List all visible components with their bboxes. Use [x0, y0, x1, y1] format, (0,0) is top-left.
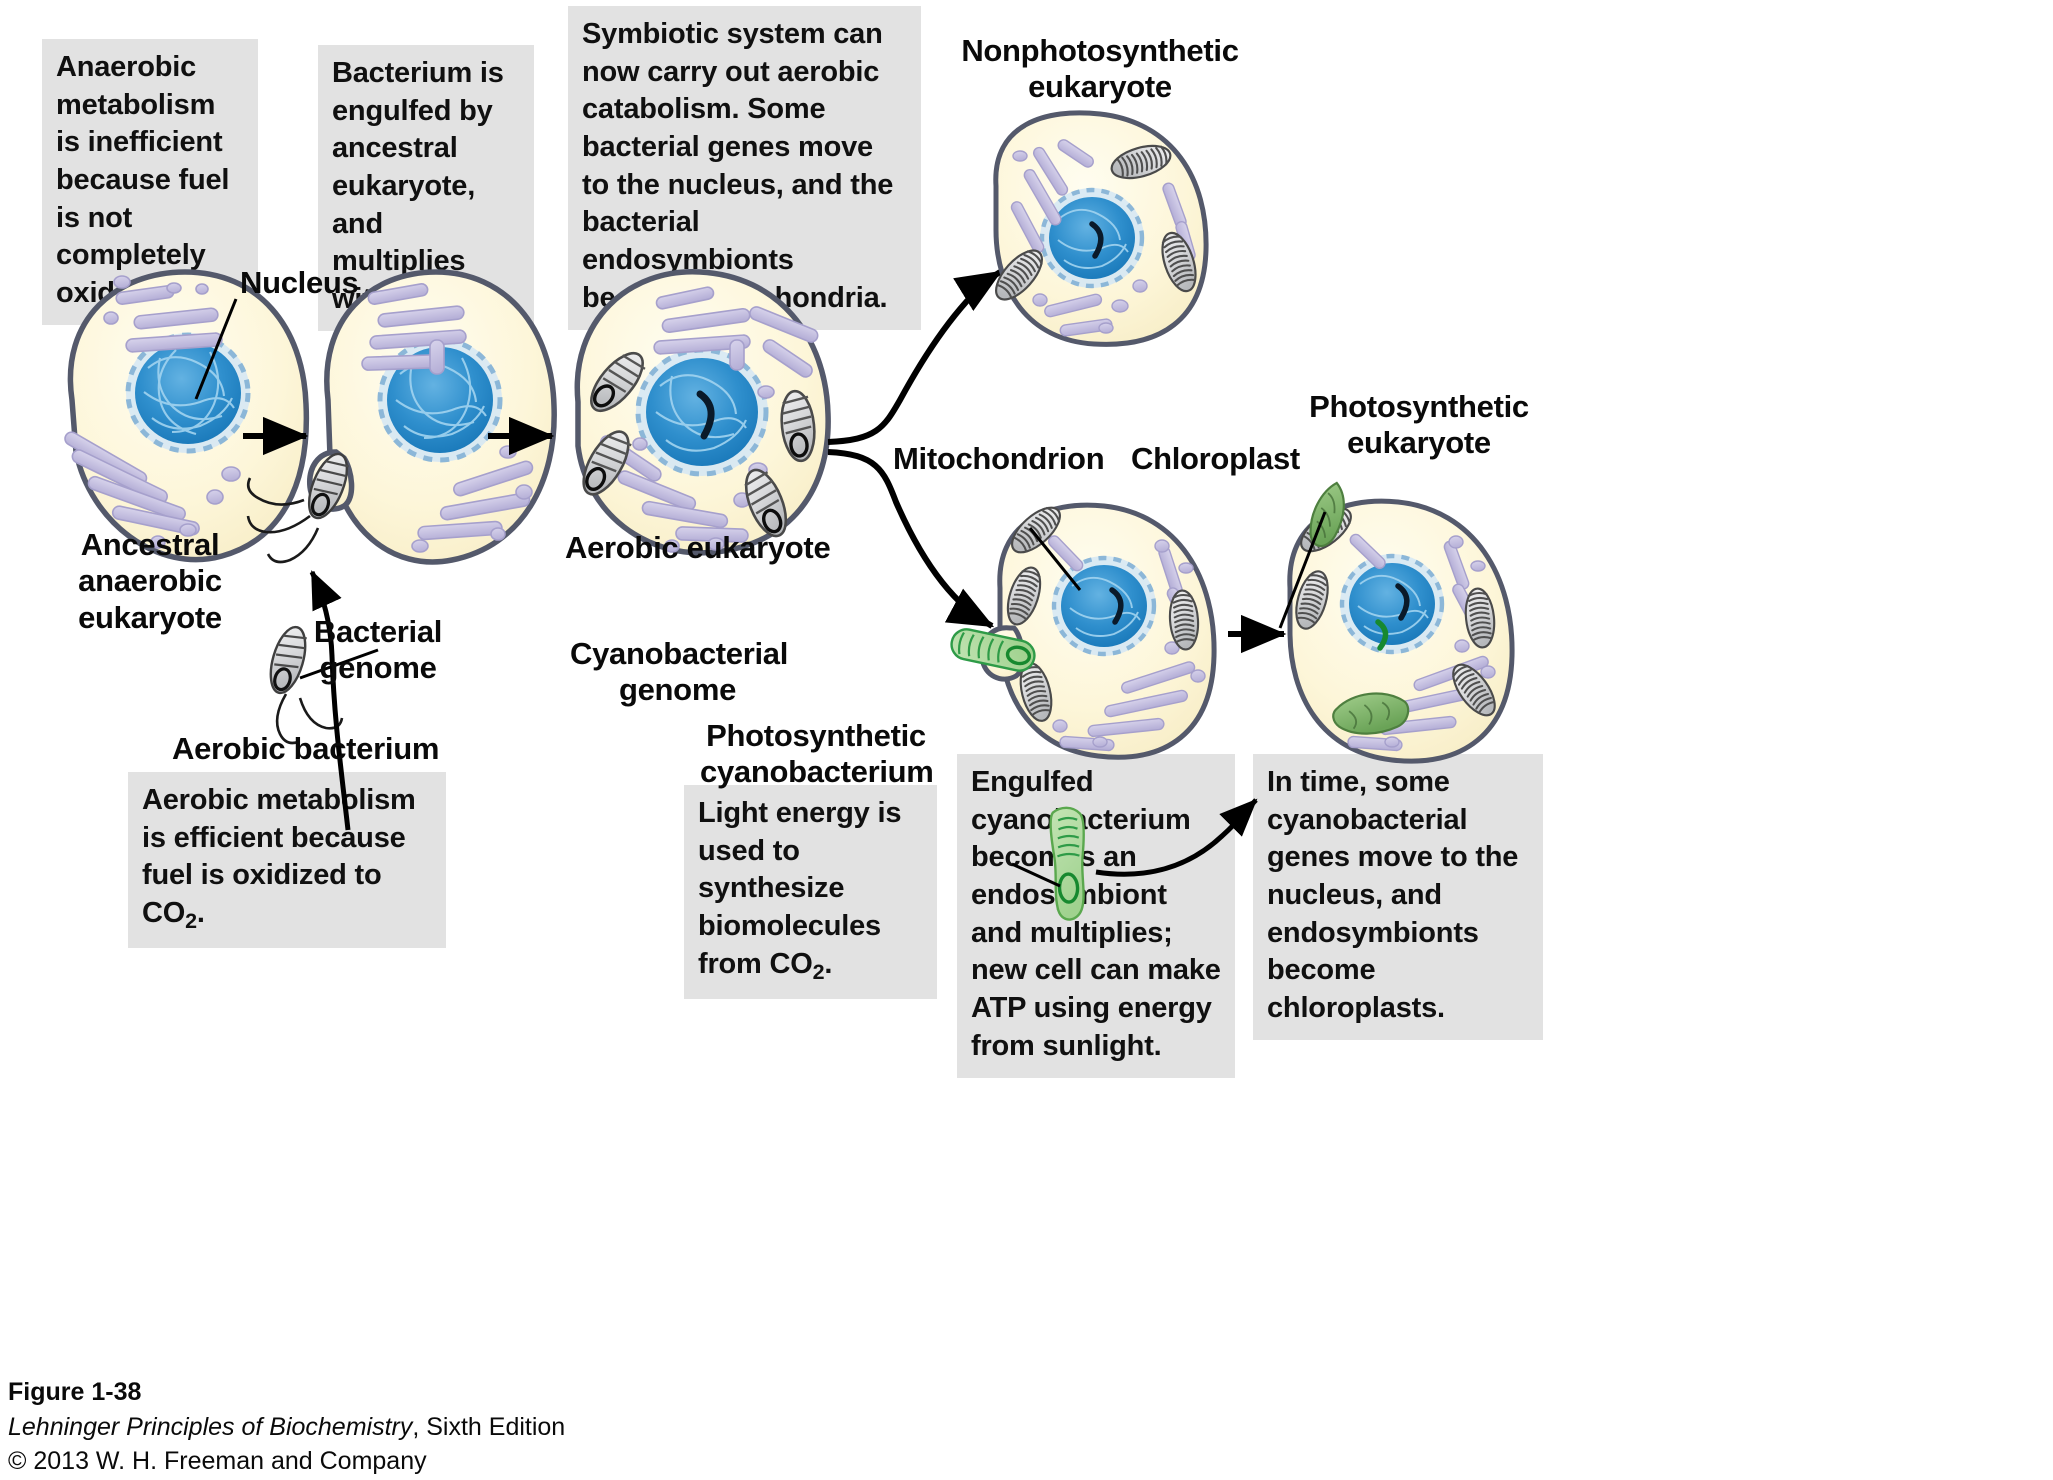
- nucleus: [1340, 554, 1444, 654]
- label-aerobic-eukaryote: Aerobic eukaryote: [565, 530, 830, 566]
- cell-ancestral-anaerobic-eukaryote: [63, 272, 307, 560]
- label-cyanobacterial-genome: Cyanobacterial genome: [570, 636, 785, 709]
- figure-edition: , Sixth Edition: [412, 1413, 565, 1441]
- arrow-bacterium-to-cell: [312, 572, 348, 830]
- nucleus: [1052, 556, 1156, 656]
- nucleus: [1040, 188, 1144, 288]
- label-bacterial-genome: Bacterial genome: [298, 614, 458, 687]
- figure-book-title: Lehninger Principles of Biochemistry: [8, 1413, 412, 1441]
- nucleus: [636, 348, 768, 476]
- label-ancestral-anaerobic-eukaryote: Ancestral anaerobic eukaryote: [10, 527, 290, 636]
- label-nonphotosynthetic-eukaryote: Nonphotosynthetic eukaryote: [940, 33, 1260, 106]
- label-photosynthetic-cyanobacterium: Photosynthetic cyanobacterium: [700, 718, 932, 791]
- label-nucleus: Nucleus: [240, 265, 359, 301]
- cell-eukaryote-engulfing-cyanobacterium: [949, 500, 1214, 757]
- label-mitochondrion: Mitochondrion: [893, 441, 1104, 477]
- cyanobacterial-genome-leader-line: [1012, 864, 1060, 886]
- figure-caption: Figure 1-38 Lehninger Principles of Bioc…: [8, 1375, 565, 1479]
- cell-nonphotosynthetic-eukaryote: [988, 113, 1206, 345]
- cell-aerobic-eukaryote: [575, 272, 829, 553]
- figure-number: Figure 1-38: [8, 1378, 141, 1406]
- label-photosynthetic-eukaryote: Photosynthetic eukaryote: [1264, 389, 1574, 462]
- label-aerobic-bacterium: Aerobic bacterium: [172, 731, 439, 767]
- cell-photosynthetic-eukaryote: [1290, 479, 1512, 761]
- arrow-cyanobacterium-to-cell: [1096, 800, 1256, 874]
- free-cyanobacterium: [1050, 807, 1087, 920]
- figure-copyright: © 2013 W. H. Freeman and Company: [8, 1447, 427, 1475]
